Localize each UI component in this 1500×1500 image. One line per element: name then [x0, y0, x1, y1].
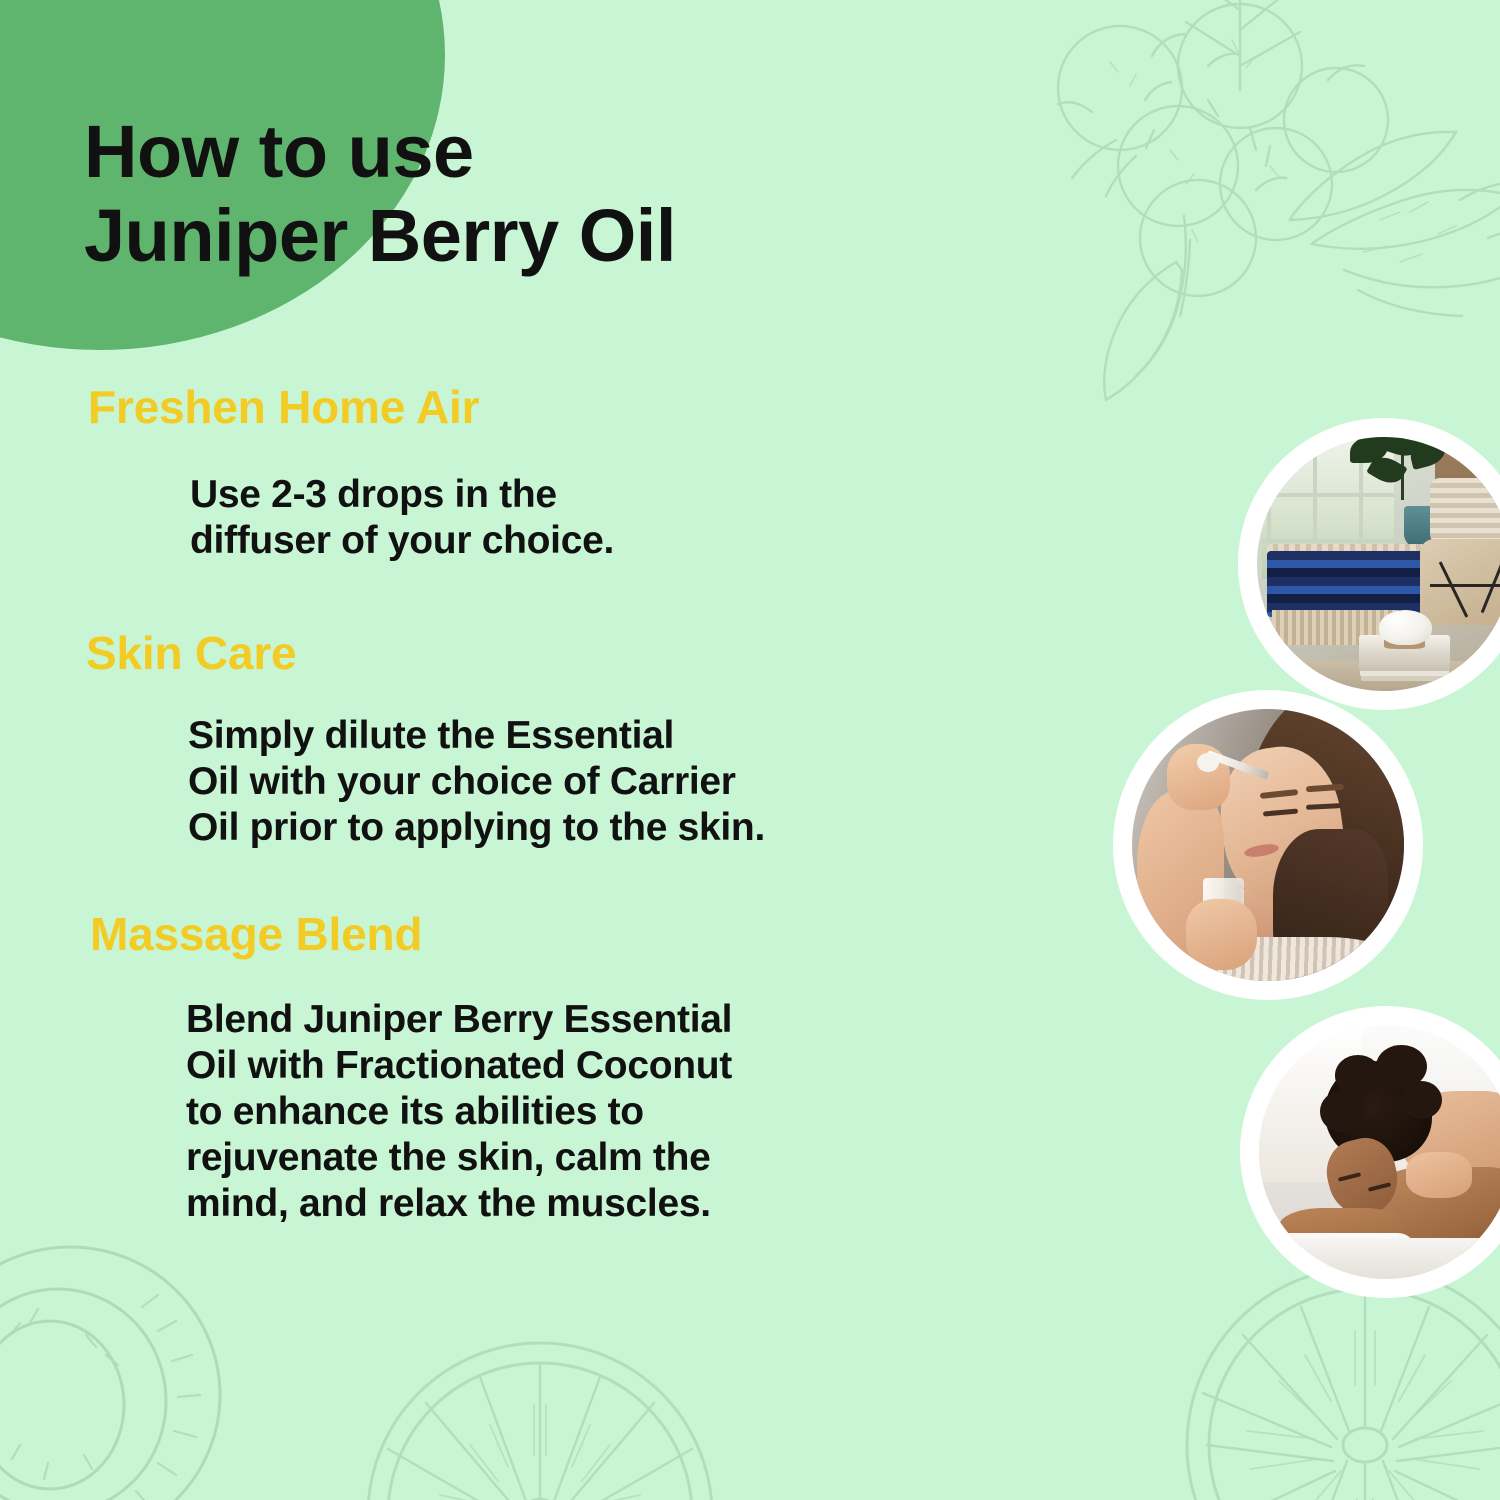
photo-inner — [1257, 437, 1500, 691]
photo-woman-applying-serum — [1113, 690, 1423, 1000]
body-line: Oil prior to applying to the skin. — [188, 805, 1010, 851]
instructions-list: Freshen Home Air Use 2-3 drops in the di… — [0, 382, 1010, 1233]
page-title-line-1: How to use — [84, 110, 914, 194]
photo-woman-receiving-massage — [1240, 1006, 1500, 1298]
citrus-slice-sketch-left — [330, 1285, 750, 1500]
body-line: Use 2-3 drops in the — [190, 472, 1010, 518]
photo-diffuser-in-living-room — [1238, 418, 1500, 710]
body-line: rejuvenate the skin, calm the — [186, 1135, 1010, 1181]
body-line: Blend Juniper Berry Essential — [186, 997, 1010, 1043]
scene-living-room — [1257, 437, 1500, 691]
citrus-slice-sketch-right — [1155, 1255, 1500, 1500]
body-line: Oil with your choice of Carrier — [188, 759, 1010, 805]
body-line: to enhance its abilities to — [186, 1089, 1010, 1135]
page-title-line-2: Juniper Berry Oil — [84, 194, 914, 278]
section-skin-care: Skin Care Simply dilute the Essential Oi… — [0, 628, 1010, 852]
body-line: Oil with Fractionated Coconut — [186, 1043, 1010, 1089]
page-title: How to use Juniper Berry Oil — [84, 110, 914, 277]
body-line: Simply dilute the Essential — [188, 713, 1010, 759]
body-line: mind, and relax the muscles. — [186, 1181, 1010, 1227]
photo-inner — [1259, 1025, 1500, 1279]
section-body-massage-blend: Blend Juniper Berry Essential Oil with F… — [0, 997, 1010, 1227]
body-line: diffuser of your choice. — [190, 518, 1010, 564]
scene-spa-massage — [1259, 1025, 1500, 1279]
section-massage-blend: Massage Blend Blend Juniper Berry Essent… — [0, 909, 1010, 1227]
section-heading-freshen-home-air: Freshen Home Air — [0, 382, 1010, 434]
poster-canvas: How to use Juniper Berry Oil Freshen Hom… — [0, 0, 1500, 1500]
section-heading-massage-blend: Massage Blend — [0, 909, 1010, 961]
section-body-skin-care: Simply dilute the Essential Oil with you… — [0, 713, 1010, 851]
juniper-berry-branch-sketch — [940, 0, 1500, 450]
scene-serum-application — [1132, 709, 1404, 981]
coconut-half-sketch — [0, 1215, 310, 1500]
photo-inner — [1132, 709, 1404, 981]
section-heading-skin-care: Skin Care — [0, 628, 1010, 680]
section-body-freshen-home-air: Use 2-3 drops in the diffuser of your ch… — [0, 472, 1010, 564]
section-freshen-home-air: Freshen Home Air Use 2-3 drops in the di… — [0, 382, 1010, 564]
